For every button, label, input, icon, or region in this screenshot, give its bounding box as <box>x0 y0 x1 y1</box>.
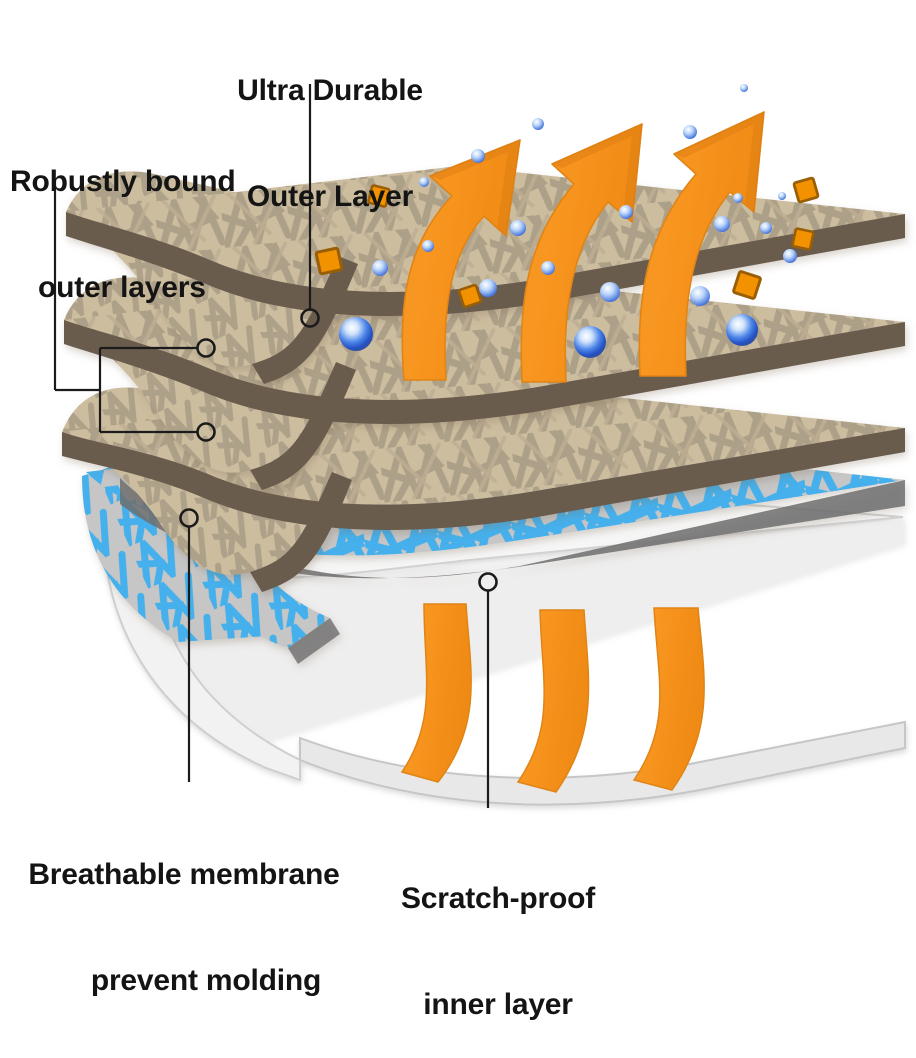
droplet <box>372 260 388 276</box>
droplet <box>541 261 555 275</box>
label-breathable-membrane: Breathable membrane prevent molding <box>8 786 360 1034</box>
debris-cube <box>792 228 813 249</box>
droplet <box>600 282 620 302</box>
label-robustly-bound: Robustly bound outer layers <box>10 93 290 341</box>
label-breathable-line1: Breathable membrane <box>8 857 360 892</box>
droplet <box>740 84 748 92</box>
droplet <box>760 222 772 234</box>
label-scratch-proof-line2: inner layer <box>374 987 622 1022</box>
label-scratch-proof-line1: Scratch-proof <box>374 881 622 916</box>
droplet <box>714 216 730 232</box>
droplet <box>471 149 485 163</box>
droplet <box>733 193 743 203</box>
droplet <box>726 314 758 346</box>
debris-cube <box>794 178 819 203</box>
droplet <box>619 205 633 219</box>
debris-cube <box>316 248 342 274</box>
debris-cube <box>459 285 482 308</box>
debris-cube <box>733 271 761 299</box>
droplet <box>690 286 710 306</box>
droplet <box>339 317 373 351</box>
droplet <box>783 249 797 263</box>
droplet <box>683 125 697 139</box>
label-robustly-bound-line1: Robustly bound <box>10 164 290 199</box>
droplet <box>574 326 606 358</box>
label-robustly-bound-line2: outer layers <box>10 270 290 305</box>
droplet <box>510 220 526 236</box>
droplet <box>532 118 544 130</box>
droplet <box>778 192 786 200</box>
droplet <box>479 279 497 297</box>
label-breathable-line2: prevent molding <box>8 963 360 998</box>
label-scratch-proof: Scratch-proof inner layer <box>374 810 622 1058</box>
